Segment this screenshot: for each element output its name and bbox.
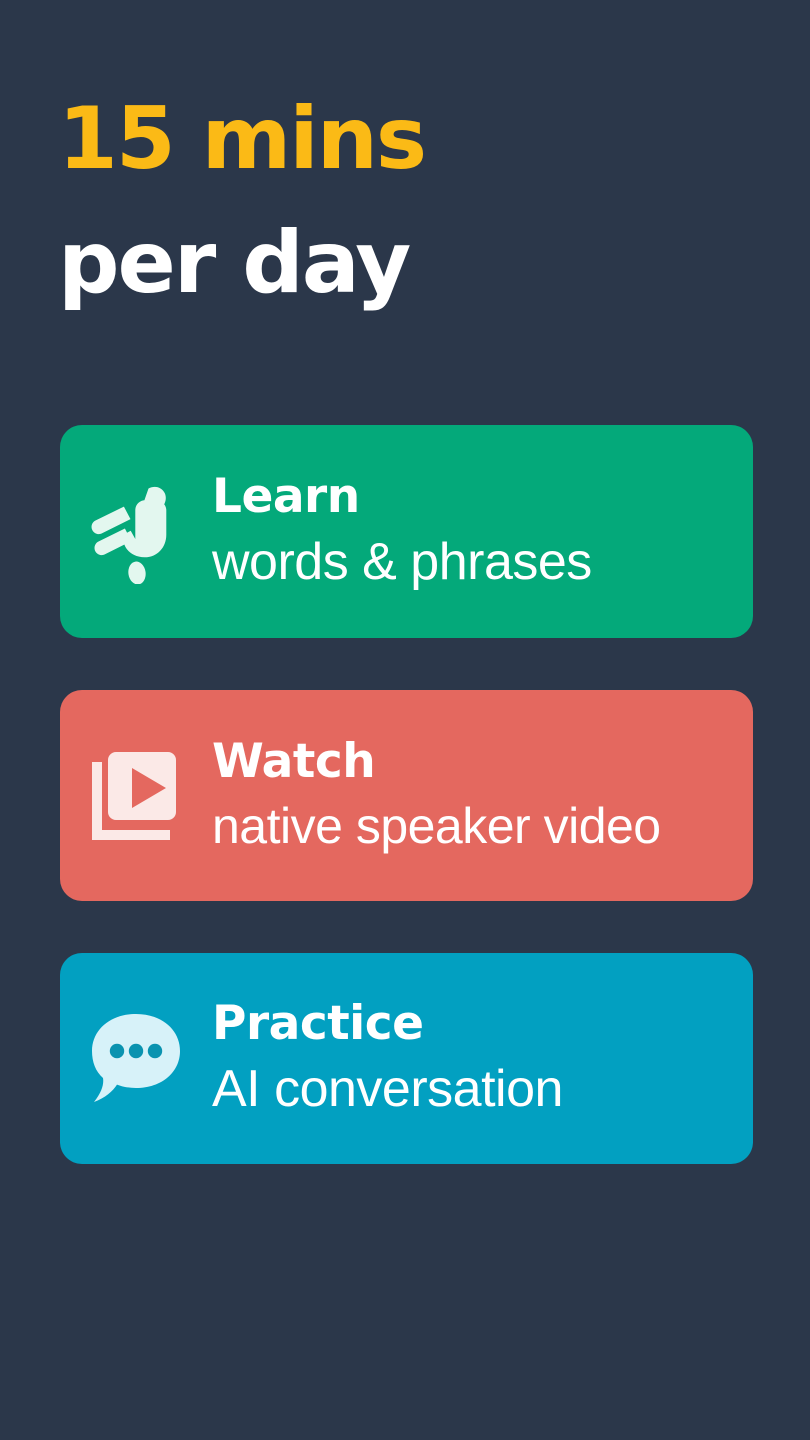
hand-drop-icon: [60, 480, 212, 584]
feature-card-watch-subtitle: native speaker video: [212, 798, 741, 854]
headline-line-duration: 15 mins: [58, 96, 758, 182]
feature-card-practice-subtitle: AI conversation: [212, 1060, 741, 1118]
feature-card-practice-title: Practice: [212, 999, 741, 1048]
chat-bubble-dots-icon: [60, 1012, 212, 1106]
feature-card-watch-text: Watch native speaker video: [212, 737, 753, 854]
feature-card-learn-title: Learn: [212, 472, 741, 521]
feature-card-learn-text: Learn words & phrases: [212, 472, 753, 592]
promo-screen: 15 mins per day Learn words & phr: [0, 0, 810, 1440]
feature-card-learn-subtitle: words & phrases: [212, 533, 741, 591]
feature-card-watch[interactable]: Watch native speaker video: [60, 690, 753, 901]
feature-card-learn[interactable]: Learn words & phrases: [60, 425, 753, 638]
headline-line-frequency: per day: [58, 220, 758, 306]
feature-card-practice[interactable]: Practice AI conversation: [60, 953, 753, 1164]
feature-card-watch-title: Watch: [212, 737, 741, 786]
video-stack-play-icon: [60, 748, 212, 844]
feature-card-practice-text: Practice AI conversation: [212, 999, 753, 1119]
feature-card-list: Learn words & phrases Watch native speak…: [60, 425, 753, 1164]
page-title: 15 mins per day: [58, 96, 758, 306]
